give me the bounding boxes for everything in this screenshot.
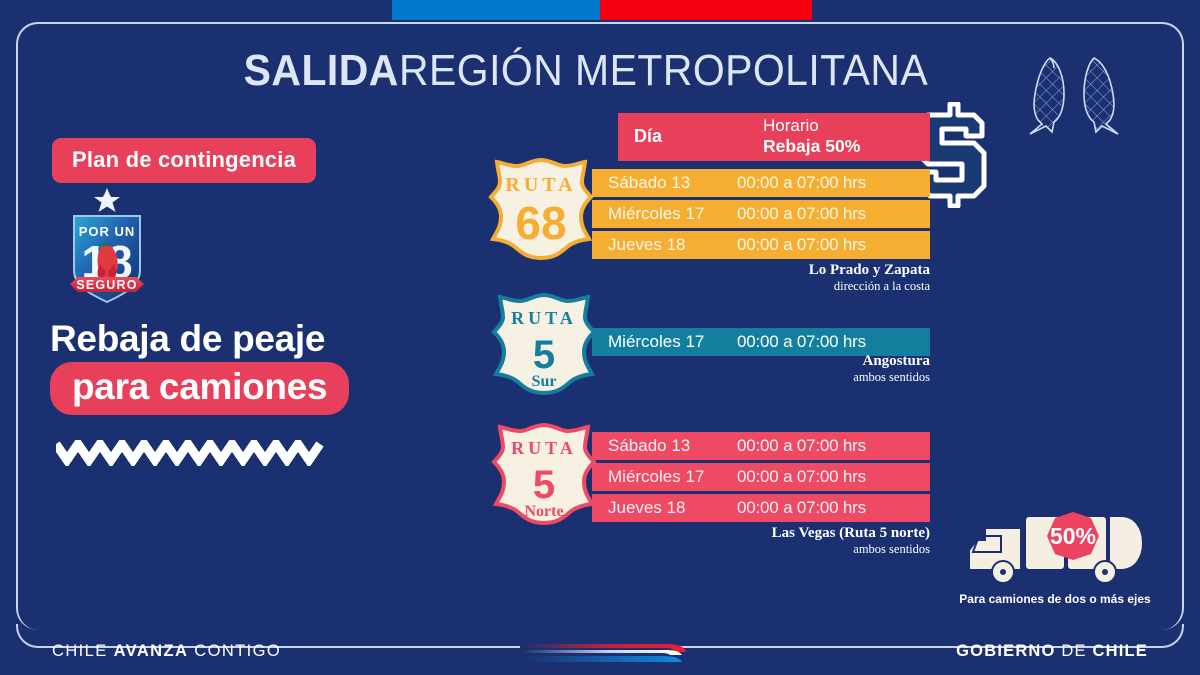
route-note-68: Lo Prado y Zapata dirección a la costa (592, 261, 930, 294)
table-row: Miércoles 17 00:00 a 07:00 hrs (592, 200, 930, 228)
column-header-time-line2: Rebaja 50% (763, 136, 860, 156)
logo-star-glyph (94, 188, 120, 212)
table-header: Día Horario Rebaja 50% (618, 113, 930, 161)
shield-number-5-sur: 5 (533, 333, 555, 377)
shield-label-5-norte: RUTA (511, 438, 577, 458)
topbar-blue-segment (392, 0, 600, 20)
zigzag-divider (56, 440, 324, 466)
footer-right-part2: DE (1061, 642, 1086, 660)
cell-time: 00:00 a 07:00 hrs (737, 204, 866, 224)
cell-day: Miércoles 17 (608, 204, 704, 224)
footer-right-part3: CHILE (1087, 642, 1148, 660)
cell-time: 00:00 a 07:00 hrs (737, 173, 866, 193)
cell-day: Miércoles 17 (608, 332, 704, 352)
cell-time: 00:00 a 07:00 hrs (737, 332, 866, 352)
route-note-main: Angostura (592, 352, 930, 370)
column-header-time: Horario Rebaja 50% (763, 116, 860, 156)
route-note-main: Lo Prado y Zapata (592, 261, 930, 279)
cell-day: Jueves 18 (608, 498, 686, 518)
table-row: Sábado 13 00:00 a 07:00 hrs (592, 169, 930, 197)
copihue-flowers-decoration (1008, 52, 1148, 142)
shield-ruta-5-sur: RUTA 5 Sur (490, 292, 598, 401)
column-header-time-line1: Horario (763, 116, 819, 135)
cell-day: Sábado 13 (608, 436, 690, 456)
tanker-truck-icon: 50% (955, 498, 1151, 588)
footer-left-part2: AVANZA (114, 642, 189, 660)
table-row: Miércoles 17 00:00 a 07:00 hrs (592, 463, 930, 491)
table-row: Sábado 13 00:00 a 07:00 hrs (592, 432, 930, 460)
shield-ruta-5-norte: RUTA 5 Norte (490, 422, 598, 531)
route-note-sub: dirección a la costa (592, 279, 930, 294)
cell-day: Sábado 13 (608, 173, 690, 193)
top-tricolor-bar (0, 0, 1200, 20)
discount-percent-text: 50% (1050, 523, 1096, 549)
cell-day: Jueves 18 (608, 235, 686, 255)
topbar-red-segment (600, 0, 812, 20)
shield-sub-5-sur: Sur (532, 373, 557, 390)
cell-time: 00:00 a 07:00 hrs (737, 498, 866, 518)
truck-caption: Para camiones de dos o más ejes (950, 592, 1160, 606)
shield-label-5-sur: RUTA (511, 308, 577, 328)
route-note-sub: ambos sentidos (592, 542, 930, 557)
shield-number-5-norte: 5 (533, 463, 555, 507)
page-title-light: REGIÓN METROPOLITANA (399, 46, 928, 96)
route-note-5-norte: Las Vegas (Ruta 5 norte) ambos sentidos (592, 524, 930, 557)
footer-slogan-left: CHILE AVANZA CONTIGO (52, 642, 281, 661)
column-header-day: Día (634, 126, 662, 147)
footer-right-part1: GOBIERNO (956, 642, 1061, 660)
footer-gov-right: GOBIERNO DE CHILE (956, 642, 1148, 661)
headline-line-2: para camiones (50, 362, 349, 415)
copihue-icon-left (1030, 58, 1064, 134)
poster-canvas: SALIDA REGIÓN METROPOLITANA Plan de cont… (0, 0, 1200, 675)
cell-time: 00:00 a 07:00 hrs (737, 436, 866, 456)
shield-ruta-68: RUTA 68 (487, 157, 595, 266)
page-title-bold: SALIDA (244, 46, 399, 96)
cell-time: 00:00 a 07:00 hrs (737, 235, 866, 255)
por-un-18-seguro-logo: POR UN 18 SEGURO (52, 186, 162, 306)
table-row: Jueves 18 00:00 a 07:00 hrs (592, 494, 930, 522)
plan-badge: Plan de contingencia (52, 138, 316, 183)
shield-number-68: 68 (515, 197, 566, 249)
logo-seguro-text: SEGURO (76, 278, 137, 292)
cell-day: Miércoles 17 (608, 467, 704, 487)
shield-sub-5-norte: Norte (524, 503, 563, 520)
footer-left-part3: CONTIGO (188, 642, 281, 660)
headline-line-1: Rebaja de peaje (50, 318, 325, 360)
table-row: Jueves 18 00:00 a 07:00 hrs (592, 231, 930, 259)
cell-time: 00:00 a 07:00 hrs (737, 467, 866, 487)
route-note-5-sur: Angostura ambos sentidos (592, 352, 930, 385)
chile-flag-swoosh-logo (516, 638, 692, 666)
shield-label-68: RUTA (505, 174, 576, 196)
copihue-icon-right (1084, 58, 1118, 134)
footer-left-part1: CHILE (52, 642, 114, 660)
route-note-main: Las Vegas (Ruta 5 norte) (592, 524, 930, 542)
route-note-sub: ambos sentidos (592, 370, 930, 385)
